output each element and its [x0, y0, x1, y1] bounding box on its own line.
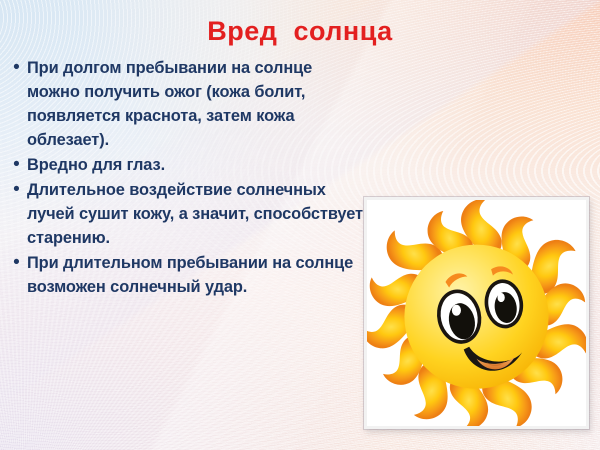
bullet-marker-icon: •	[6, 153, 27, 177]
illustration-frame	[364, 197, 589, 429]
bullet-marker-icon: •	[6, 251, 27, 275]
list-item: • Вредно для глаз.	[6, 153, 366, 177]
sun-icon	[367, 200, 586, 426]
list-item: • Длительное воздействие солнечных лучей…	[6, 178, 366, 250]
bullet-marker-icon: •	[6, 56, 27, 80]
list-item: • При длительном пребывании на солнце во…	[6, 251, 366, 299]
bullet-marker-icon: •	[6, 178, 27, 202]
list-item-text: Длительное воздействие солнечных лучей с…	[27, 178, 366, 250]
bullet-list: • При долгом пребывании на солнце можно …	[6, 56, 366, 300]
list-item-text: При долгом пребывании на солнце можно по…	[27, 56, 366, 152]
list-item-text: Вредно для глаз.	[27, 153, 366, 177]
slide-title: Вред солнца	[0, 16, 600, 47]
slide-canvas: Вред солнца • При долгом пребывании на с…	[0, 0, 600, 450]
list-item-text: При длительном пребывании на солнце возм…	[27, 251, 366, 299]
list-item: • При долгом пребывании на солнце можно …	[6, 56, 366, 152]
